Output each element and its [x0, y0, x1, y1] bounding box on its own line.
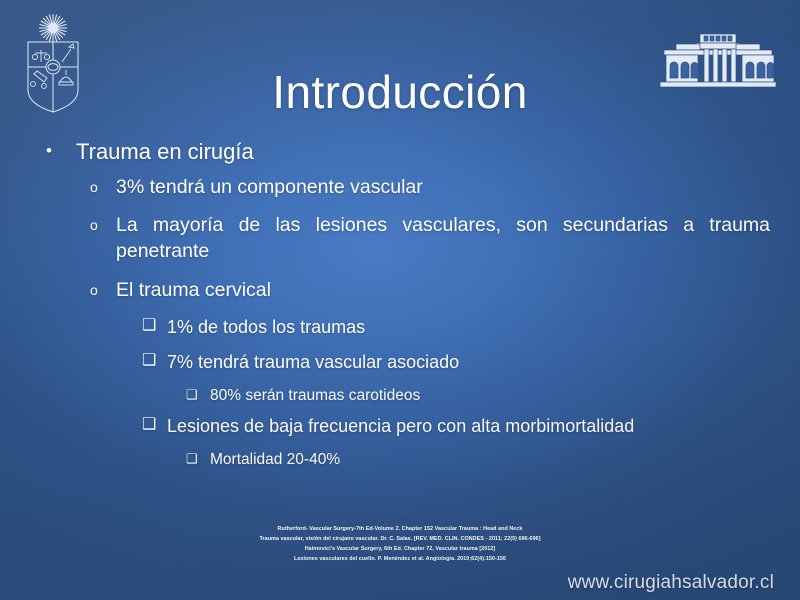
- list-item: ❑ Mortalidad 20-40%: [46, 450, 770, 470]
- slide-body: • Trauma en cirugía o 3% tendrá un compo…: [0, 138, 800, 479]
- bullet-square-icon: ❑: [186, 450, 210, 465]
- reference-line: Lesiones vasculares del cuello. P. Menén…: [0, 554, 800, 564]
- list-item: • Trauma en cirugía: [46, 138, 770, 166]
- reference-line: Rutherford- Vascular Surgery-7th Ed-Volu…: [0, 524, 800, 534]
- bullet-square-icon: ❑: [142, 415, 167, 433]
- slide-header: Introducción: [0, 0, 800, 126]
- bullet-square-icon: ❑: [142, 316, 167, 334]
- hospital-building-facade-icon: [658, 30, 778, 92]
- list-item: ❑ Lesiones de baja frecuencia pero con a…: [46, 415, 770, 439]
- list-item: o 3% tendrá un componente vascular: [46, 175, 770, 201]
- bullet-square-icon: ❑: [142, 351, 167, 369]
- list-item: o El trauma cervical: [46, 278, 770, 304]
- list-item: ❑ 1% de todos los traumas: [46, 316, 770, 340]
- list-item-text: 1% de todos los traumas: [167, 316, 770, 340]
- bullet-square-icon: ❑: [186, 386, 210, 401]
- bullet-circle-icon: o: [90, 278, 116, 297]
- list-item-text: El trauma cervical: [116, 278, 770, 304]
- list-item: ❑ 80% serán traumas carotideos: [46, 386, 770, 406]
- bullet-circle-icon: o: [90, 175, 116, 194]
- list-item: o La mayoría de las lesiones vasculares,…: [46, 213, 770, 264]
- reference-line: Haimovici's Vascular Surgery, 6th Ed. Ch…: [0, 544, 800, 554]
- list-item-text: 3% tendrá un componente vascular: [116, 175, 770, 201]
- references-block: Rutherford- Vascular Surgery-7th Ed-Volu…: [0, 524, 800, 564]
- list-item-text: 7% tendrá trauma vascular asociado: [167, 351, 770, 375]
- reference-line: Trauma vascular, visión del cirujano vas…: [0, 534, 800, 544]
- list-item-text: Trauma en cirugía: [76, 138, 770, 166]
- bullet-dot-icon: •: [46, 138, 76, 159]
- list-item-text: Lesiones de baja frecuencia pero con alt…: [167, 415, 770, 439]
- list-item: ❑ 7% tendrá trauma vascular asociado: [46, 351, 770, 375]
- footer-website-url: www.cirugiahsalvador.cl: [568, 572, 774, 594]
- list-item-text: 80% serán traumas carotideos: [210, 386, 770, 406]
- list-item-text: La mayoría de las lesiones vasculares, s…: [116, 213, 770, 264]
- slide: Introducción: [0, 0, 800, 600]
- list-item-text: Mortalidad 20-40%: [210, 450, 770, 470]
- bullet-circle-icon: o: [90, 213, 116, 232]
